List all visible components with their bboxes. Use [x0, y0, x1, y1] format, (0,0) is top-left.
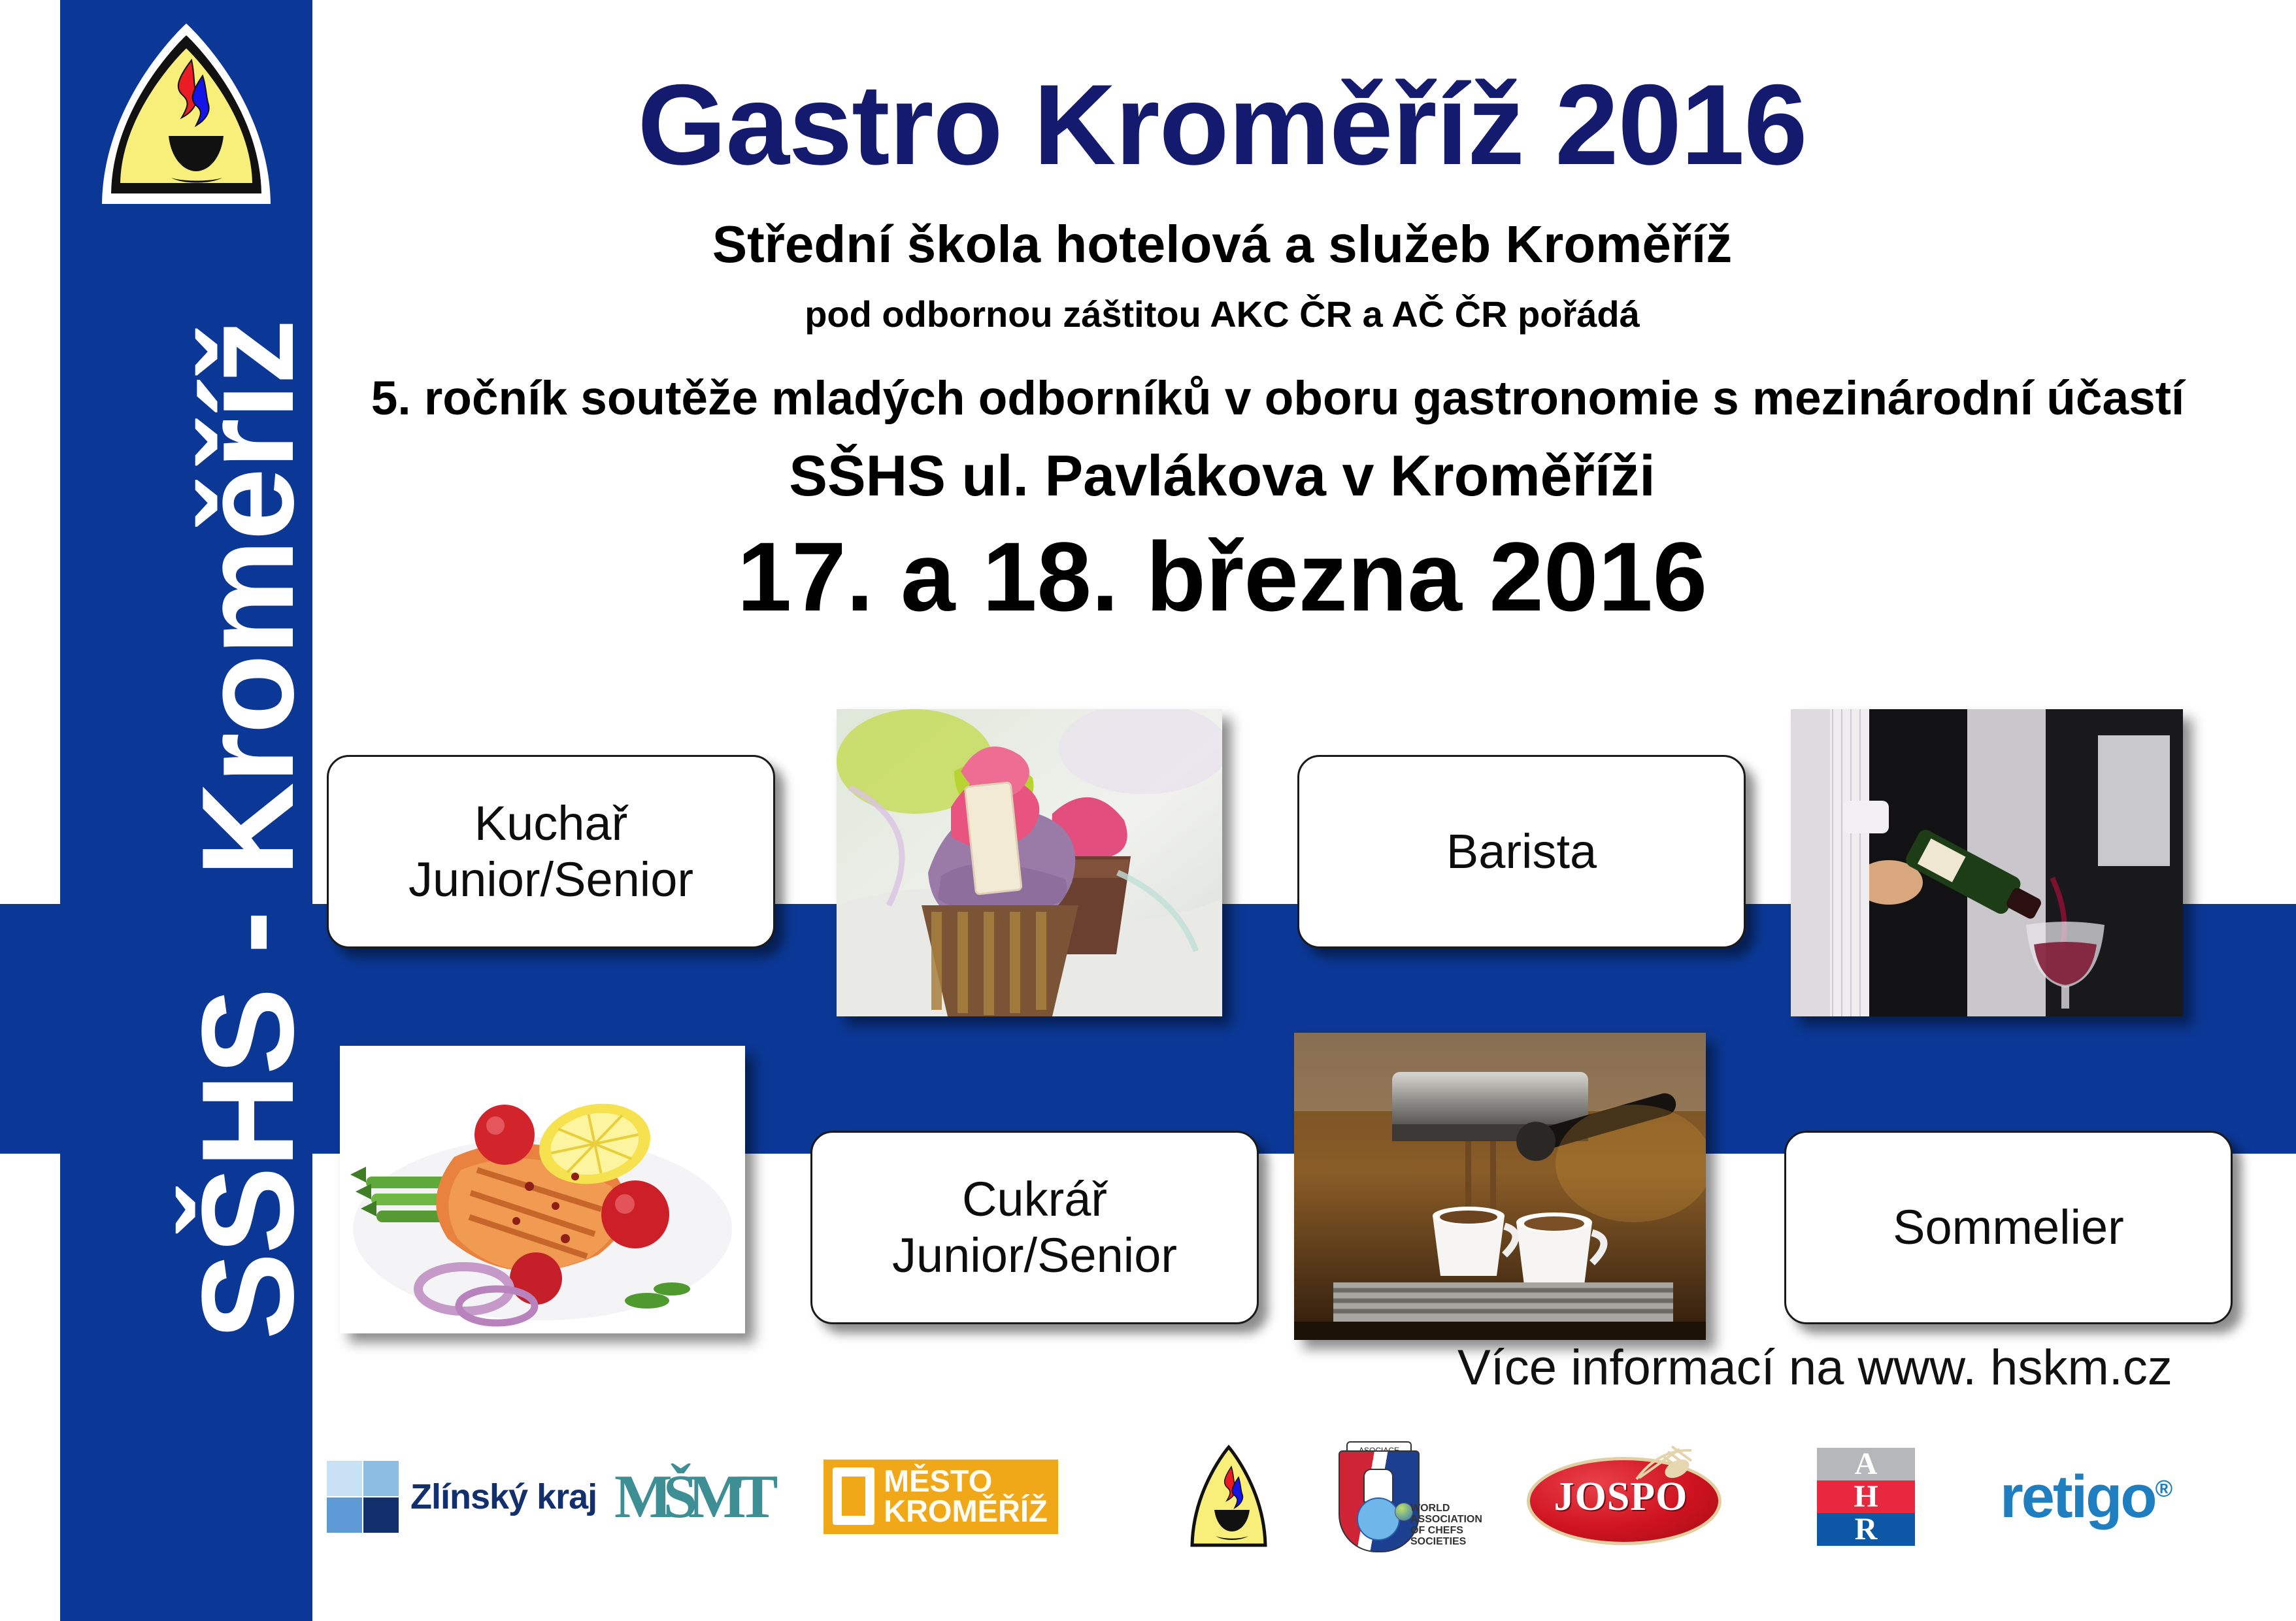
poster-subtitle: Střední škola hotelová a služeb Kroměříž	[366, 216, 2078, 273]
globe-icon	[1357, 1497, 1400, 1541]
school-crest-small-icon	[1190, 1445, 1268, 1549]
sponsor-label-mesto-line2: KROMĚŘÍŽ	[884, 1494, 1048, 1528]
poster-venue-line: SŠHS ul. Pavlákova v Kroměříži	[366, 444, 2078, 508]
poster-title: Gastro Kroměříž 2016	[366, 65, 2078, 186]
photo-espresso-machine	[1294, 1033, 1706, 1340]
poster-date-line: 17. a 18. března 2016	[366, 523, 2078, 631]
category-label-barista-line1: Barista	[1446, 824, 1597, 878]
school-crest-logo	[98, 20, 275, 209]
sponsor-label-jospo: JOSPO	[1523, 1474, 1719, 1520]
category-label-sommelier-line1: Sommelier	[1893, 1200, 2124, 1254]
category-label-kuchar-line1: Kuchař	[474, 796, 627, 850]
sponsor-logo-sshs-kromeriz	[1190, 1431, 1268, 1562]
sponsor-logo-msmt: MŠMT	[614, 1431, 769, 1562]
zlinsky-kraj-squares-icon	[327, 1461, 399, 1533]
photo-salmon-plate	[340, 1046, 745, 1333]
category-box-cukrar[interactable]: Cukrář Junior/Senior	[810, 1131, 1259, 1324]
sponsor-label-mesto-line1: MĚSTO	[884, 1463, 992, 1498]
sponsor-logo-ahr: A H R	[1817, 1431, 1915, 1562]
category-label-cukrar-line2: Junior/Senior	[892, 1228, 1177, 1282]
registered-trademark-icon: ®	[2155, 1475, 2171, 1501]
sponsor-label-retigo: retigo	[2000, 1463, 2155, 1530]
wacs-label: WORLD ASSOCIATION OF CHEFS SOCIETIES	[1410, 1503, 1482, 1548]
poster-edition-line: 5. ročník soutěže mladých odborníků v ob…	[314, 373, 2242, 425]
category-label-cukrar-line1: Cukrář	[962, 1172, 1107, 1226]
sponsor-logo-retigo: retigo®	[2000, 1431, 2171, 1562]
sponsor-logo-strip: Zlínský kraj MŠMT MĚSTO KROMĚŘÍŽ	[327, 1431, 2274, 1562]
ahr-letters: A H R	[1817, 1448, 1915, 1546]
poster-patronage-line: pod odbornou záštitou AKC ČR a AČ ČR poř…	[366, 294, 2078, 335]
mesto-kromeriz-square-icon	[833, 1467, 874, 1525]
category-box-sommelier[interactable]: Sommelier	[1784, 1131, 2233, 1324]
sponsor-logo-zlinsky-kraj: Zlínský kraj	[327, 1431, 597, 1562]
category-box-kuchar[interactable]: Kuchař Junior/Senior	[327, 755, 775, 948]
sponsor-label-msmt: MŠMT	[614, 1462, 769, 1532]
category-label-kuchar-line2: Junior/Senior	[408, 852, 693, 907]
sponsor-logo-akc-cr: ASOCIACE WORLD ASSOCIATION OF CHEFS SOCI…	[1327, 1431, 1438, 1562]
sponsor-logo-mesto-kromeriz: MĚSTO KROMĚŘÍŽ	[824, 1431, 1058, 1562]
photo-sommelier-pour	[1791, 709, 2183, 1016]
more-info-line: Více informací na www. hskm.cz	[1457, 1343, 2261, 1393]
sponsor-label-zlinsky-kraj: Zlínský kraj	[410, 1477, 597, 1517]
photo-cupcakes	[837, 709, 1222, 1016]
sponsor-logo-jospo: JOSPO	[1523, 1431, 1719, 1562]
category-box-barista[interactable]: Barista	[1297, 755, 1746, 948]
poster-canvas: SŠHS - Kroměříž Gastro Kroměříž 2016 Stř…	[0, 0, 2296, 1621]
